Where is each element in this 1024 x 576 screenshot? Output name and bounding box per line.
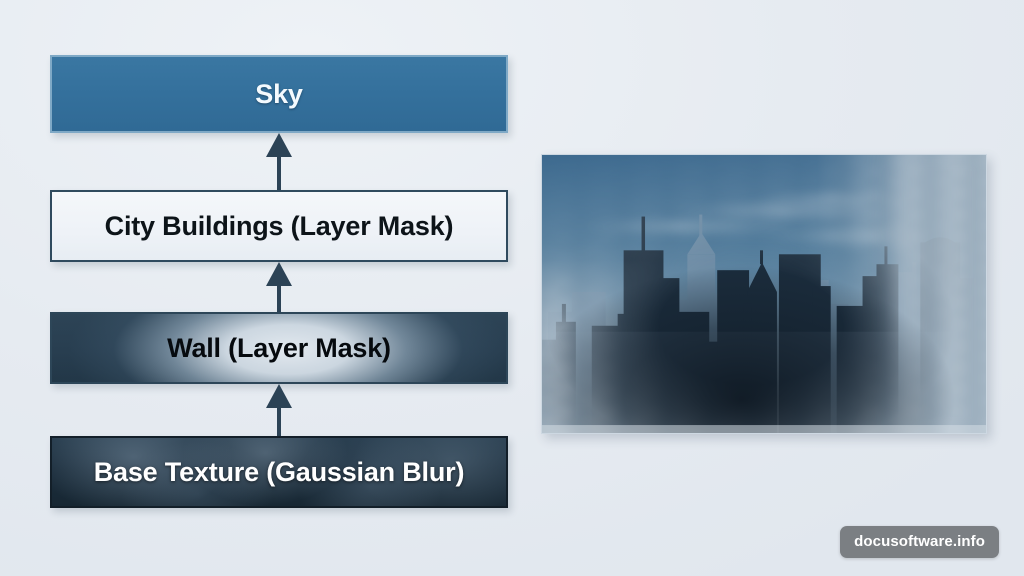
layer-box-wall[interactable]: Wall (Layer Mask) <box>50 312 508 384</box>
layer-stack-diagram: Sky City Buildings (Layer Mask) Wall (La… <box>50 55 508 517</box>
arrow-wall-to-city <box>50 262 508 312</box>
layer-label-city-buildings: City Buildings (Layer Mask) <box>105 211 454 242</box>
layer-label-sky: Sky <box>255 79 302 110</box>
arrow-base-to-wall <box>50 384 508 436</box>
watermark: docusoftware.info <box>840 526 999 558</box>
preview-image <box>542 155 986 433</box>
layer-box-sky[interactable]: Sky <box>50 55 508 133</box>
layer-label-wall: Wall (Layer Mask) <box>167 333 391 364</box>
slide-canvas: Sky City Buildings (Layer Mask) Wall (La… <box>0 0 1024 576</box>
preview-image-frame[interactable] <box>541 154 987 434</box>
arrow-city-to-sky <box>50 133 508 190</box>
layer-box-city-buildings[interactable]: City Buildings (Layer Mask) <box>50 190 508 262</box>
layer-label-base-texture: Base Texture (Gaussian Blur) <box>94 457 465 488</box>
layer-box-base-texture[interactable]: Base Texture (Gaussian Blur) <box>50 436 508 508</box>
